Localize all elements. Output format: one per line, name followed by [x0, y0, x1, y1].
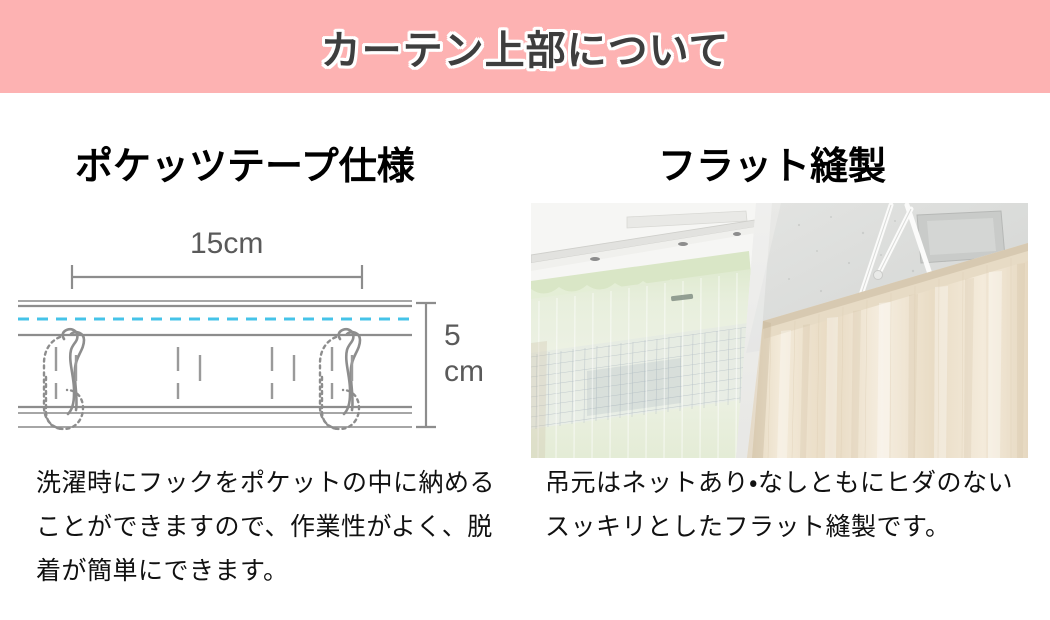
width-dimension-label: 15cm — [190, 227, 263, 260]
height-dimension-value: 5 — [444, 319, 461, 352]
body-text-right: 吊元はネットあり・なしともにヒダのないスッキリとしたフラット縫製です。 — [545, 461, 1035, 549]
height-dimension-unit: cm — [444, 355, 484, 388]
pocket-tape-diagram: .ln { stroke:#8d8d8d; stroke-width:2.2; … — [0, 213, 525, 438]
photo-scene-flat-curtain — [726, 203, 1028, 458]
body-text-left: 洗濯時にフックをポケットの中に納めることができますので、作業性がよく、脱着が簡単… — [36, 461, 508, 593]
section-heading-right: フラット縫製 — [658, 135, 886, 190]
curtain-hook-left — [44, 329, 84, 429]
curtain-hook-right — [320, 329, 360, 429]
section-heading-left: ポケッツテープ仕様 — [75, 135, 415, 190]
header-band: カーテン上部について — [0, 0, 1050, 93]
flat-sewing-photo — [531, 203, 1028, 458]
page-title: カーテン上部について — [321, 18, 730, 76]
product-info-graphic: カーテン上部について ポケッツテープ仕様 .ln { stroke:#8d8d8… — [0, 0, 1050, 620]
